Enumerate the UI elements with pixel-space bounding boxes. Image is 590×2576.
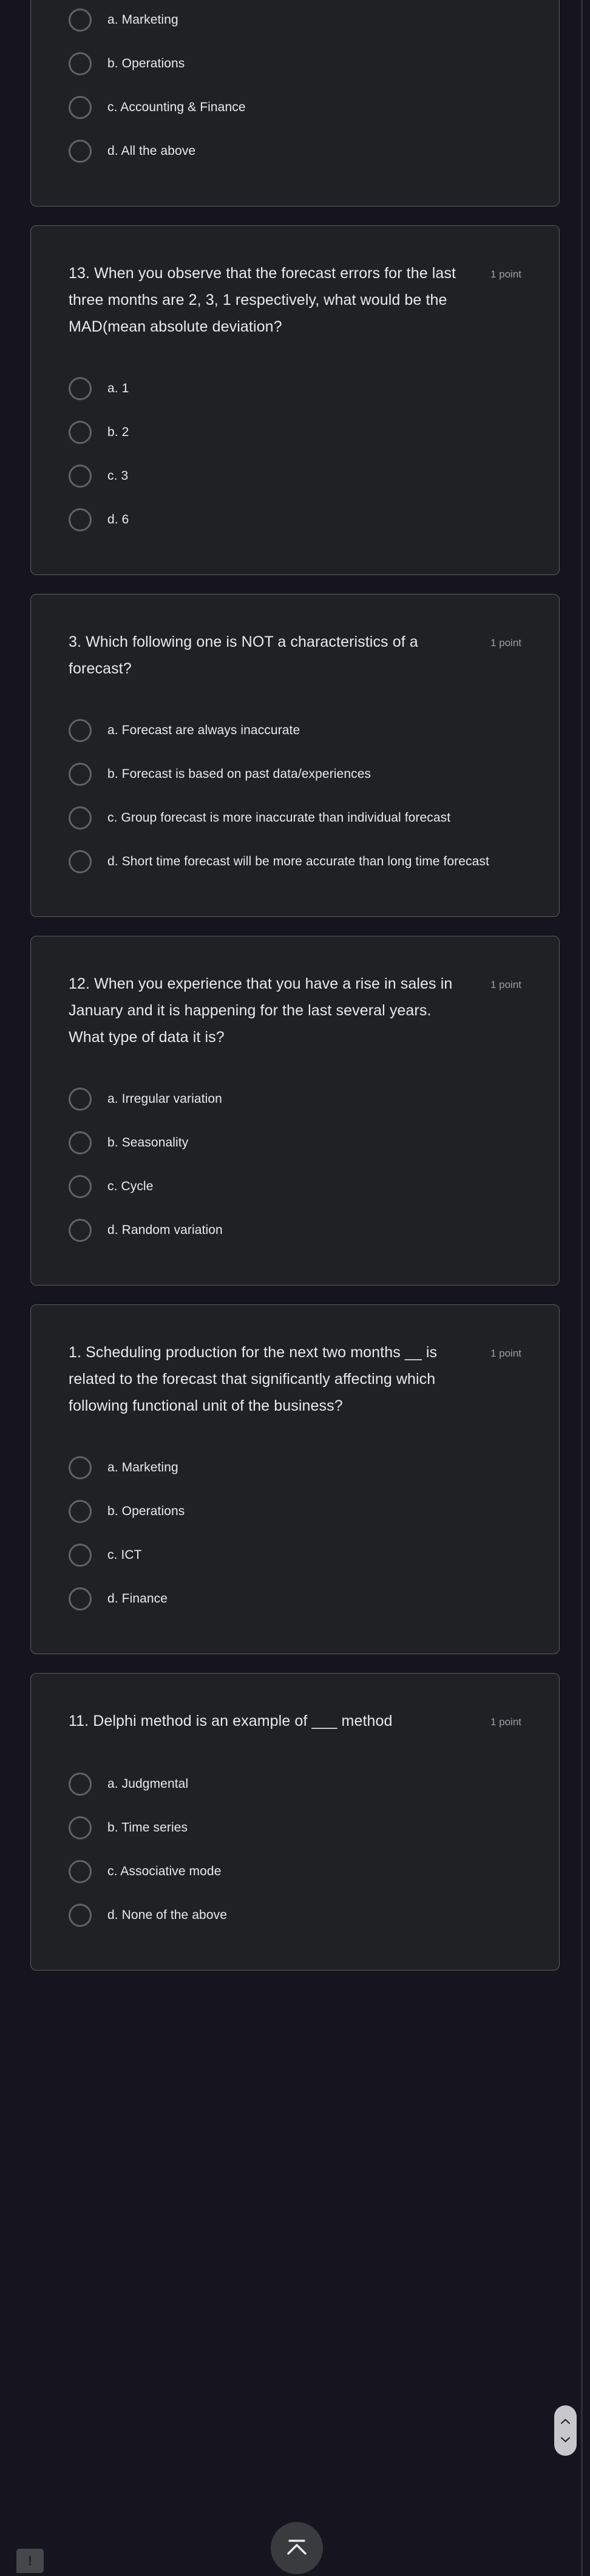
- feedback-report-button[interactable]: !: [16, 2549, 44, 2573]
- option-row[interactable]: c. Accounting & Finance: [69, 86, 521, 129]
- option-label: a. 1: [107, 377, 129, 400]
- quiz-page: 2. Forecast affect which area of the bus…: [0, 0, 590, 2576]
- option-label: d. None of the above: [107, 1904, 227, 1927]
- chevron-down-icon[interactable]: [560, 2436, 571, 2443]
- radio-button-icon[interactable]: [69, 1544, 92, 1567]
- option-label: c. ICT: [107, 1544, 142, 1567]
- option-label: c. Associative mode: [107, 1860, 222, 1883]
- radio-button-icon[interactable]: [69, 52, 92, 75]
- radio-button-icon[interactable]: [69, 1088, 92, 1111]
- option-group: a. Marketingb. Operationsc. ICTd. Financ…: [69, 1446, 521, 1621]
- question-title: 13. When you observe that the forecast e…: [69, 260, 469, 340]
- question-card: 2. Forecast affect which area of the bus…: [30, 0, 560, 206]
- radio-button-icon[interactable]: [69, 1219, 92, 1242]
- question-card: 12. When you experience that you have a …: [30, 936, 560, 1286]
- page-scrollbar-track[interactable]: [581, 0, 583, 2576]
- option-row[interactable]: c. Associative mode: [69, 1850, 521, 1893]
- question-header: 1. Scheduling production for the next tw…: [69, 1339, 521, 1419]
- option-row[interactable]: d. Finance: [69, 1577, 521, 1621]
- radio-button-icon[interactable]: [69, 1456, 92, 1479]
- scroll-nudge-control[interactable]: [554, 2405, 577, 2456]
- radio-button-icon[interactable]: [69, 421, 92, 444]
- option-row[interactable]: a. Marketing: [69, 1446, 521, 1490]
- radio-button-icon[interactable]: [69, 508, 92, 531]
- radio-button-icon[interactable]: [69, 763, 92, 786]
- option-row[interactable]: b. Seasonality: [69, 1121, 521, 1165]
- scroll-to-top-icon: [284, 2537, 310, 2560]
- option-label: c. 3: [107, 465, 128, 488]
- question-card: 1. Scheduling production for the next tw…: [30, 1304, 560, 1654]
- question-title: 12. When you experience that you have a …: [69, 970, 469, 1051]
- radio-button-icon[interactable]: [69, 465, 92, 488]
- option-label: c. Group forecast is more inaccurate tha…: [107, 806, 450, 830]
- option-label: a. Judgmental: [107, 1773, 188, 1796]
- option-label: b. Seasonality: [107, 1131, 188, 1154]
- radio-button-icon[interactable]: [69, 9, 92, 32]
- question-title: 11. Delphi method is an example of ___ m…: [69, 1708, 393, 1734]
- question-card: 11. Delphi method is an example of ___ m…: [30, 1673, 560, 1971]
- radio-button-icon[interactable]: [69, 1773, 92, 1796]
- option-row[interactable]: d. Random variation: [69, 1208, 521, 1252]
- radio-button-icon[interactable]: [69, 377, 92, 400]
- radio-button-icon[interactable]: [69, 719, 92, 742]
- option-label: a. Forecast are always inaccurate: [107, 719, 300, 742]
- question-header: 11. Delphi method is an example of ___ m…: [69, 1708, 521, 1736]
- question-points: 1 point: [490, 1708, 521, 1736]
- option-label: b. Time series: [107, 1816, 188, 1839]
- feedback-exclamation-icon: !: [28, 2555, 32, 2567]
- radio-button-icon[interactable]: [69, 1904, 92, 1927]
- question-header: 12. When you experience that you have a …: [69, 970, 521, 1051]
- option-group: a. Judgmentalb. Time seriesc. Associativ…: [69, 1762, 521, 1937]
- option-row[interactable]: a. 1: [69, 367, 521, 411]
- option-group: a. Marketingb. Operationsc. Accounting &…: [69, 0, 521, 173]
- question-points: 1 point: [490, 629, 521, 656]
- option-row[interactable]: a. Forecast are always inaccurate: [69, 709, 521, 752]
- option-label: b. Operations: [107, 1500, 185, 1523]
- option-row[interactable]: b. 2: [69, 411, 521, 454]
- option-row[interactable]: c. 3: [69, 454, 521, 498]
- option-group: a. Irregular variationb. Seasonalityc. C…: [69, 1077, 521, 1252]
- option-group: a. 1b. 2c. 3d. 6: [69, 367, 521, 542]
- radio-button-icon[interactable]: [69, 1500, 92, 1523]
- question-title: 3. Which following one is NOT a characte…: [69, 629, 469, 682]
- option-label: b. Forecast is based on past data/experi…: [107, 763, 371, 786]
- option-label: b. 2: [107, 421, 129, 444]
- radio-button-icon[interactable]: [69, 140, 92, 163]
- option-row[interactable]: b. Operations: [69, 1490, 521, 1533]
- question-list: 2. Forecast affect which area of the bus…: [30, 0, 560, 1989]
- option-row[interactable]: c. ICT: [69, 1533, 521, 1577]
- radio-button-icon[interactable]: [69, 1175, 92, 1198]
- option-row[interactable]: a. Marketing: [69, 0, 521, 42]
- option-label: c. Accounting & Finance: [107, 96, 246, 119]
- option-label: c. Cycle: [107, 1175, 153, 1198]
- question-card: 13. When you observe that the forecast e…: [30, 225, 560, 575]
- option-label: d. All the above: [107, 140, 195, 163]
- scroll-to-top-button[interactable]: [271, 2522, 323, 2574]
- option-row[interactable]: b. Operations: [69, 42, 521, 86]
- question-points: 1 point: [490, 970, 521, 998]
- option-label: d. 6: [107, 508, 129, 531]
- question-points: 1 point: [490, 1339, 521, 1367]
- option-group: a. Forecast are always inaccurateb. Fore…: [69, 709, 521, 884]
- option-row[interactable]: d. Short time forecast will be more accu…: [69, 840, 521, 884]
- option-row[interactable]: d. None of the above: [69, 1893, 521, 1937]
- chevron-up-icon[interactable]: [560, 2418, 571, 2425]
- option-row[interactable]: b. Time series: [69, 1806, 521, 1850]
- option-label: d. Finance: [107, 1587, 168, 1610]
- radio-button-icon[interactable]: [69, 1816, 92, 1839]
- option-label: a. Marketing: [107, 9, 178, 32]
- option-row[interactable]: c. Cycle: [69, 1165, 521, 1208]
- radio-button-icon[interactable]: [69, 96, 92, 119]
- radio-button-icon[interactable]: [69, 1587, 92, 1610]
- option-row[interactable]: b. Forecast is based on past data/experi…: [69, 752, 521, 796]
- option-label: b. Operations: [107, 52, 185, 75]
- radio-button-icon[interactable]: [69, 806, 92, 830]
- option-row[interactable]: a. Irregular variation: [69, 1077, 521, 1121]
- option-label: a. Irregular variation: [107, 1088, 222, 1111]
- radio-button-icon[interactable]: [69, 850, 92, 873]
- radio-button-icon[interactable]: [69, 1131, 92, 1154]
- option-row[interactable]: d. 6: [69, 498, 521, 542]
- question-card: 3. Which following one is NOT a characte…: [30, 594, 560, 917]
- option-row[interactable]: a. Judgmental: [69, 1762, 521, 1806]
- option-row[interactable]: d. All the above: [69, 129, 521, 173]
- question-header: 13. When you observe that the forecast e…: [69, 260, 521, 340]
- option-row[interactable]: c. Group forecast is more inaccurate tha…: [69, 796, 521, 840]
- question-points: 1 point: [490, 260, 521, 288]
- question-header: 3. Which following one is NOT a characte…: [69, 629, 521, 682]
- question-title: 1. Scheduling production for the next tw…: [69, 1339, 469, 1419]
- option-label: d. Random variation: [107, 1219, 223, 1242]
- radio-button-icon[interactable]: [69, 1860, 92, 1883]
- option-label: d. Short time forecast will be more accu…: [107, 850, 489, 873]
- option-label: a. Marketing: [107, 1456, 178, 1479]
